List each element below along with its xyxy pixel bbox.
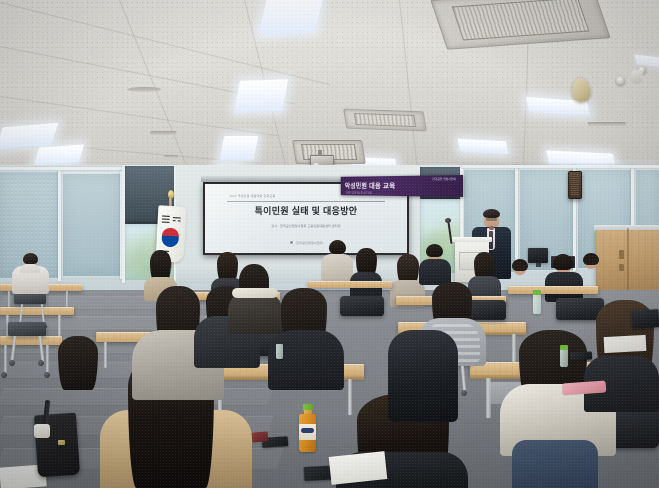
- ceiling-slot-vent: [588, 122, 627, 126]
- slide-rule: [227, 201, 385, 202]
- attendee-body: [228, 292, 282, 334]
- ceiling-light: [234, 79, 289, 113]
- slide-eyebrow: 2024 악성민원 대응역량 강화교육: [229, 194, 275, 198]
- smartphone[interactable]: [570, 351, 592, 360]
- water-bottle[interactable]: [533, 294, 541, 314]
- ac-vent-icon: [343, 109, 427, 132]
- flag-trigram: [162, 216, 170, 218]
- handbag[interactable]: [34, 413, 80, 478]
- attendee-hair: [58, 336, 98, 390]
- speaker-hair: [483, 209, 500, 218]
- desk: [0, 307, 74, 315]
- flag-taeguk-blue: [161, 236, 179, 248]
- ceiling-light: [458, 139, 509, 154]
- chair[interactable]: [340, 296, 384, 316]
- slide-subtitle: 강사 : 한국공인행정사협회 고충민원대응센터 센터장: [205, 223, 407, 228]
- ceiling: [0, 0, 659, 188]
- flag-trigram: [162, 221, 170, 223]
- projector-mount: [318, 150, 322, 156]
- attendee-body: [321, 254, 353, 281]
- slide-logo-icon: [289, 240, 294, 245]
- ceiling-light: [220, 136, 259, 160]
- banner-logo: 한국공인 행정사협회: [424, 178, 456, 192]
- slide-logo: 한국공인행정사협회: [205, 240, 407, 245]
- attendee-hood: [20, 264, 40, 273]
- speaker-microphone-icon: [489, 226, 494, 230]
- water-bottle[interactable]: [276, 344, 283, 359]
- tablet-icon[interactable]: [631, 309, 659, 329]
- ceiling-slot-vent: [164, 155, 179, 158]
- podium-top: [452, 237, 492, 242]
- attendee-hair: [512, 259, 528, 271]
- wall-panel: [62, 173, 122, 277]
- bottle-cap-icon: [533, 290, 541, 295]
- fur-collar: [232, 288, 278, 298]
- ceiling-light: [34, 144, 84, 165]
- attendee-hair: [426, 244, 443, 257]
- ceiling-light: [258, 0, 324, 35]
- flag-trigram: [177, 220, 180, 222]
- wall-frame: [58, 169, 61, 281]
- handout-paper[interactable]: [329, 451, 388, 485]
- attendee-body: [268, 330, 344, 390]
- attendee-jeans: [512, 440, 598, 488]
- monitor-icon: [528, 248, 548, 263]
- cabinet-handle[interactable]: [619, 250, 624, 259]
- bottle-cap-icon: [560, 345, 568, 350]
- card-holder[interactable]: [252, 431, 269, 442]
- lecture-hall-photo: 2024 악성민원 대응역량 강화교육 특이민원 실태 및 대응방안 강사 : …: [0, 0, 659, 488]
- slide-title: 특이민원 실태 및 대응방안: [205, 204, 407, 217]
- slide-logo-text: 한국공인행정사협회: [296, 241, 323, 245]
- attendee-body: [388, 330, 458, 422]
- bag-clasp-icon: [58, 440, 65, 445]
- attendee-hair: [23, 253, 38, 264]
- cabinet-lock-icon: [619, 264, 624, 271]
- flag-trigram: [162, 218, 170, 220]
- attendee-hair: [553, 254, 573, 270]
- speaker-glasses-icon: [486, 218, 497, 221]
- sprinkler-escutcheon: [631, 70, 643, 84]
- banner-text: 악성민원 대응 교육: [345, 181, 396, 191]
- desk: [308, 281, 392, 288]
- water-bottle[interactable]: [560, 349, 568, 367]
- desk: [0, 336, 62, 345]
- flag-trigram: [173, 217, 181, 219]
- wall-speaker-icon: [568, 171, 582, 199]
- attendee-body: [419, 259, 451, 285]
- flag-trigram: [173, 220, 176, 222]
- wall-frame: [0, 167, 124, 170]
- monitor-stand: [536, 263, 541, 267]
- microphone-head-icon: [445, 218, 451, 223]
- bag-accessory: [34, 424, 50, 438]
- wall-frame: [515, 165, 518, 273]
- desk: [508, 286, 598, 294]
- window-mullion: [122, 165, 125, 283]
- attendee-hair: [583, 253, 599, 265]
- bottle-label-mark: [301, 428, 314, 433]
- sprinkler-icon: [616, 76, 625, 85]
- chair[interactable]: [8, 322, 46, 336]
- ceiling-slot-vent: [149, 131, 176, 135]
- wall-frame: [462, 165, 659, 168]
- banner-subtext: 민원인 응대 매뉴얼 실무과정: [346, 191, 372, 195]
- handout-paper[interactable]: [604, 335, 647, 353]
- cabinet-seam: [627, 228, 629, 290]
- attendee-hair: [329, 240, 346, 254]
